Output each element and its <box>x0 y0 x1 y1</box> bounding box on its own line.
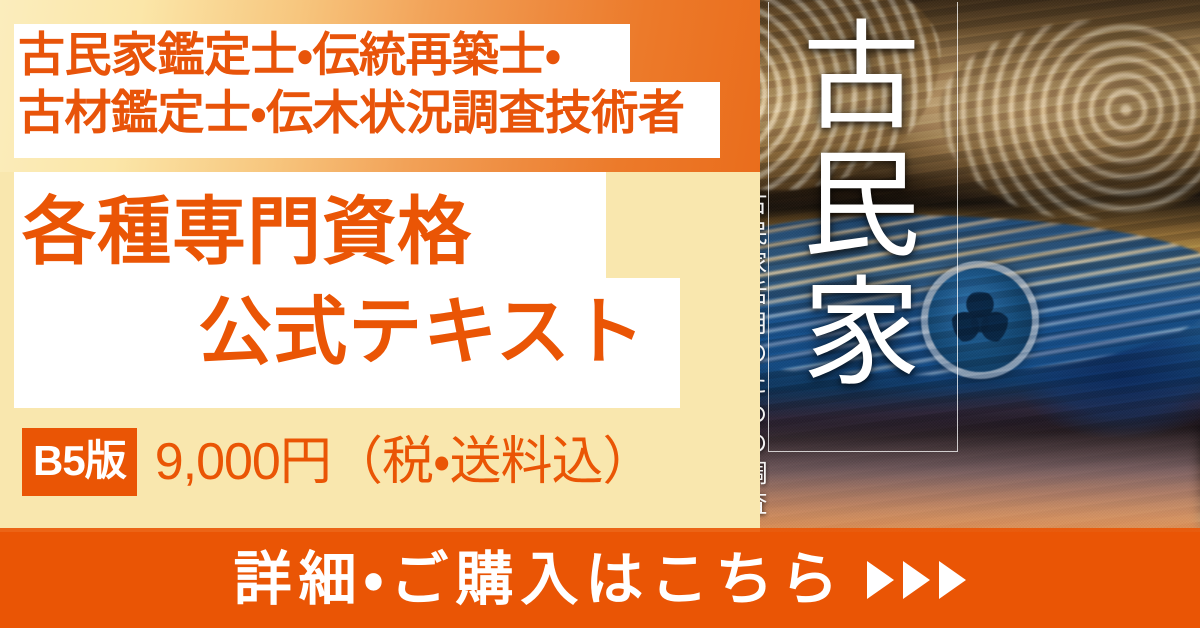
price-row: B5版 9,000円（税・送料込） <box>22 428 654 496</box>
main-headline-line-1: 各種専門資格 <box>22 190 472 273</box>
chevron-right-icon-1 <box>867 561 894 599</box>
qualifications-line-1: 古民家鑑定士・伝統再築士・ <box>18 28 560 81</box>
chevron-right-icon-2 <box>903 561 930 599</box>
promo-banner: 伝統構法 古民家活用のための調査と再生の 古民家 古民家鑑定士・伝統再築士・ 古… <box>0 0 1200 628</box>
main-headline: 各種専門資格 公式テキスト <box>22 182 702 382</box>
cta-arrow-group <box>867 561 966 599</box>
price-label: 9,000円（税・送料込） <box>155 436 654 488</box>
cta-bar[interactable]: 詳細・ご購入はこちら <box>0 532 1200 628</box>
qualifications-headline: 古民家鑑定士・伝統再築士・ 古材鑑定士・伝木状況調査技術者 <box>18 26 724 142</box>
qualifications-line-2: 古材鑑定士・伝木状況調査技術者 <box>18 84 724 142</box>
main-headline-line-2: 公式テキスト <box>22 282 702 382</box>
cta-label: 詳細・ご購入はこちら <box>234 551 846 609</box>
format-badge: B5版 <box>22 428 137 496</box>
chevron-right-icon-3 <box>939 561 966 599</box>
